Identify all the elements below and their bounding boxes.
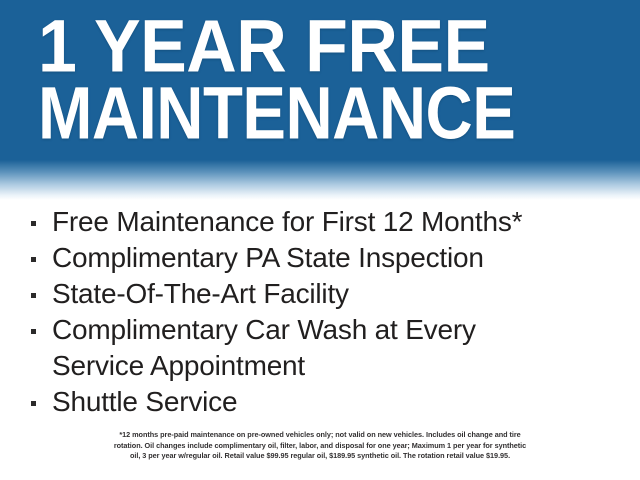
feature-text: Free Maintenance for First 12 Months* bbox=[52, 206, 522, 237]
list-item: Complimentary PA State Inspection bbox=[0, 240, 640, 276]
list-item: State-Of-The-Art Facility bbox=[0, 276, 640, 312]
list-item: Free Maintenance for First 12 Months* bbox=[0, 204, 640, 240]
header-banner: 1 YEAR FREE MAINTENANCE bbox=[0, 0, 640, 200]
disclaimer-line-2: rotation. Oil changes include compliment… bbox=[34, 441, 606, 452]
disclaimer-text: *12 months pre-paid maintenance on pre-o… bbox=[34, 430, 606, 462]
square-bullet-icon bbox=[31, 329, 36, 334]
promotional-ad: 1 YEAR FREE MAINTENANCE Free Maintenance… bbox=[0, 0, 640, 480]
feature-text: Shuttle Service bbox=[52, 386, 237, 417]
list-item: Complimentary Car Wash at Every Service … bbox=[0, 312, 640, 384]
feature-text: Complimentary PA State Inspection bbox=[52, 242, 484, 273]
square-bullet-icon bbox=[31, 257, 36, 262]
banner-gradient-fade bbox=[0, 160, 640, 200]
square-bullet-icon bbox=[31, 293, 36, 298]
square-bullet-icon bbox=[31, 221, 36, 226]
disclaimer-line-3: oil, 3 per year w/regular oil. Retail va… bbox=[34, 451, 606, 462]
headline-line-1: 1 YEAR FREE bbox=[38, 12, 640, 80]
disclaimer-line-1: *12 months pre-paid maintenance on pre-o… bbox=[34, 430, 606, 441]
feature-list: Free Maintenance for First 12 Months* Co… bbox=[0, 204, 640, 420]
feature-text-continuation: Service Appointment bbox=[52, 348, 640, 384]
headline: 1 YEAR FREE MAINTENANCE bbox=[38, 12, 618, 139]
list-item: Shuttle Service bbox=[0, 384, 640, 420]
headline-line-2: MAINTENANCE bbox=[38, 79, 612, 147]
square-bullet-icon bbox=[31, 401, 36, 406]
feature-text: Complimentary Car Wash at Every bbox=[52, 314, 476, 345]
feature-text: State-Of-The-Art Facility bbox=[52, 278, 349, 309]
